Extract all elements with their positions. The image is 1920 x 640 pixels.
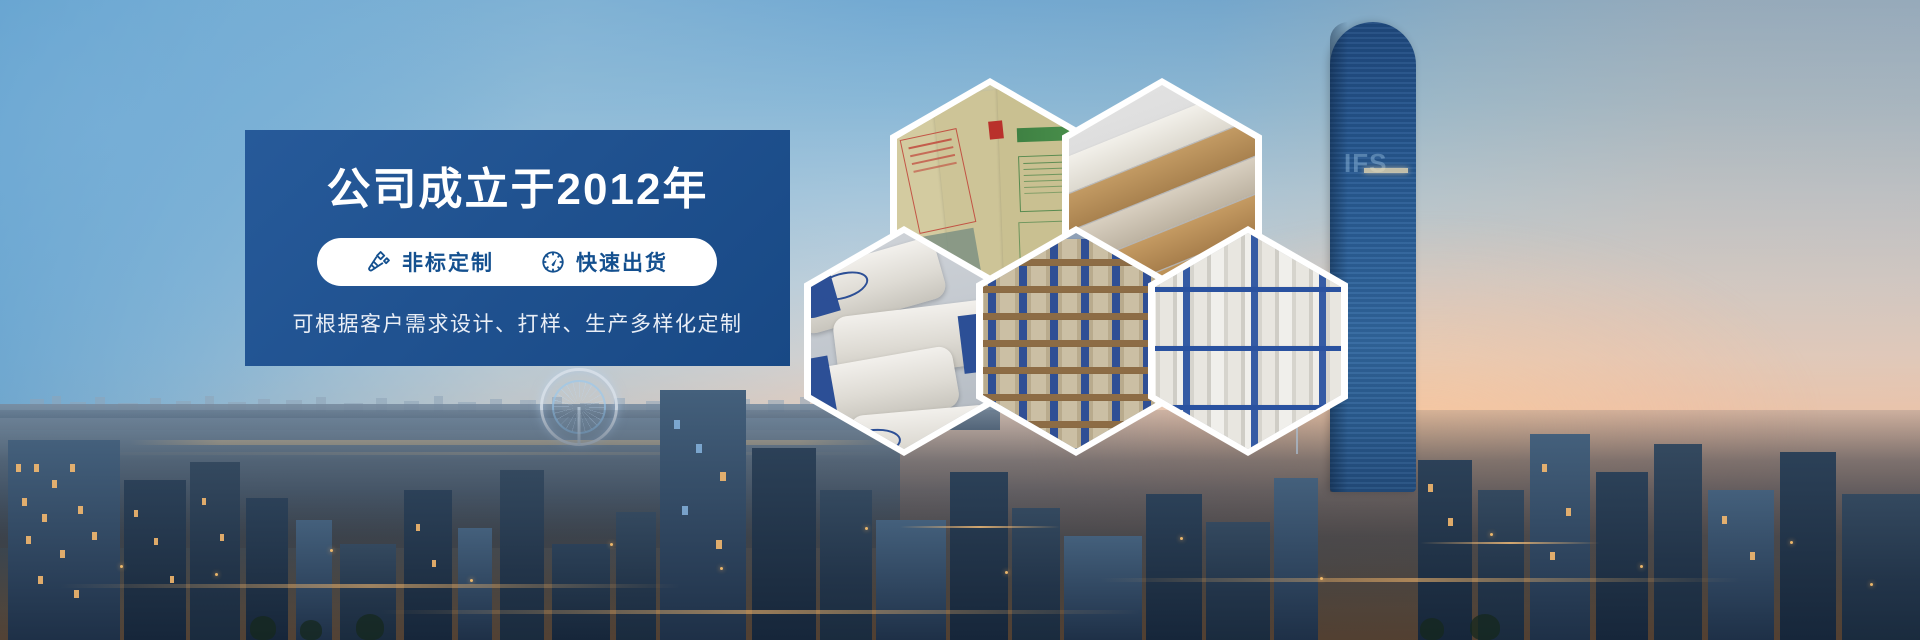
building (1274, 478, 1318, 640)
badge-label: 快速出货 (576, 247, 668, 277)
building (500, 470, 544, 640)
street-lights (1100, 578, 1740, 582)
building (1708, 490, 1774, 640)
building (1842, 494, 1920, 640)
speedometer-icon (540, 249, 566, 275)
feature-badge-pill: 非标定制 快速出货 (317, 238, 717, 286)
badge-fast-shipping[interactable]: 快速出货 (540, 247, 668, 277)
street-lights (1420, 542, 1600, 544)
building (950, 472, 1008, 640)
building (1654, 444, 1702, 640)
building (1780, 452, 1836, 640)
building (1596, 472, 1648, 640)
building (616, 512, 656, 640)
building (190, 462, 240, 640)
banner-root: IFS (0, 0, 1920, 640)
badge-label: 非标定制 (402, 247, 494, 277)
page-title: 公司成立于2012年 (245, 168, 790, 212)
building (1064, 536, 1142, 640)
building (820, 490, 872, 640)
building (1146, 494, 1202, 640)
street-lights (60, 584, 680, 588)
building (660, 390, 746, 640)
building (1418, 460, 1472, 640)
building (552, 544, 610, 640)
building (404, 490, 452, 640)
building (876, 520, 946, 640)
ifs-tower-label: IFS (1344, 148, 1387, 179)
hexagon-collage (790, 78, 1350, 458)
street-lights (380, 610, 1140, 614)
badge-custom-made[interactable]: 非标定制 (366, 247, 494, 277)
building (8, 440, 120, 640)
building (1530, 434, 1590, 640)
street-lights (900, 526, 1060, 528)
hero-panel: 公司成立于2012年 非标定制 (245, 130, 790, 366)
building (124, 480, 186, 640)
ifs-tower-light-band (1364, 168, 1408, 173)
ruler-pen-icon (366, 249, 392, 275)
page-subtitle: 可根据客户需求设计、打样、生产多样化定制 (245, 308, 790, 338)
